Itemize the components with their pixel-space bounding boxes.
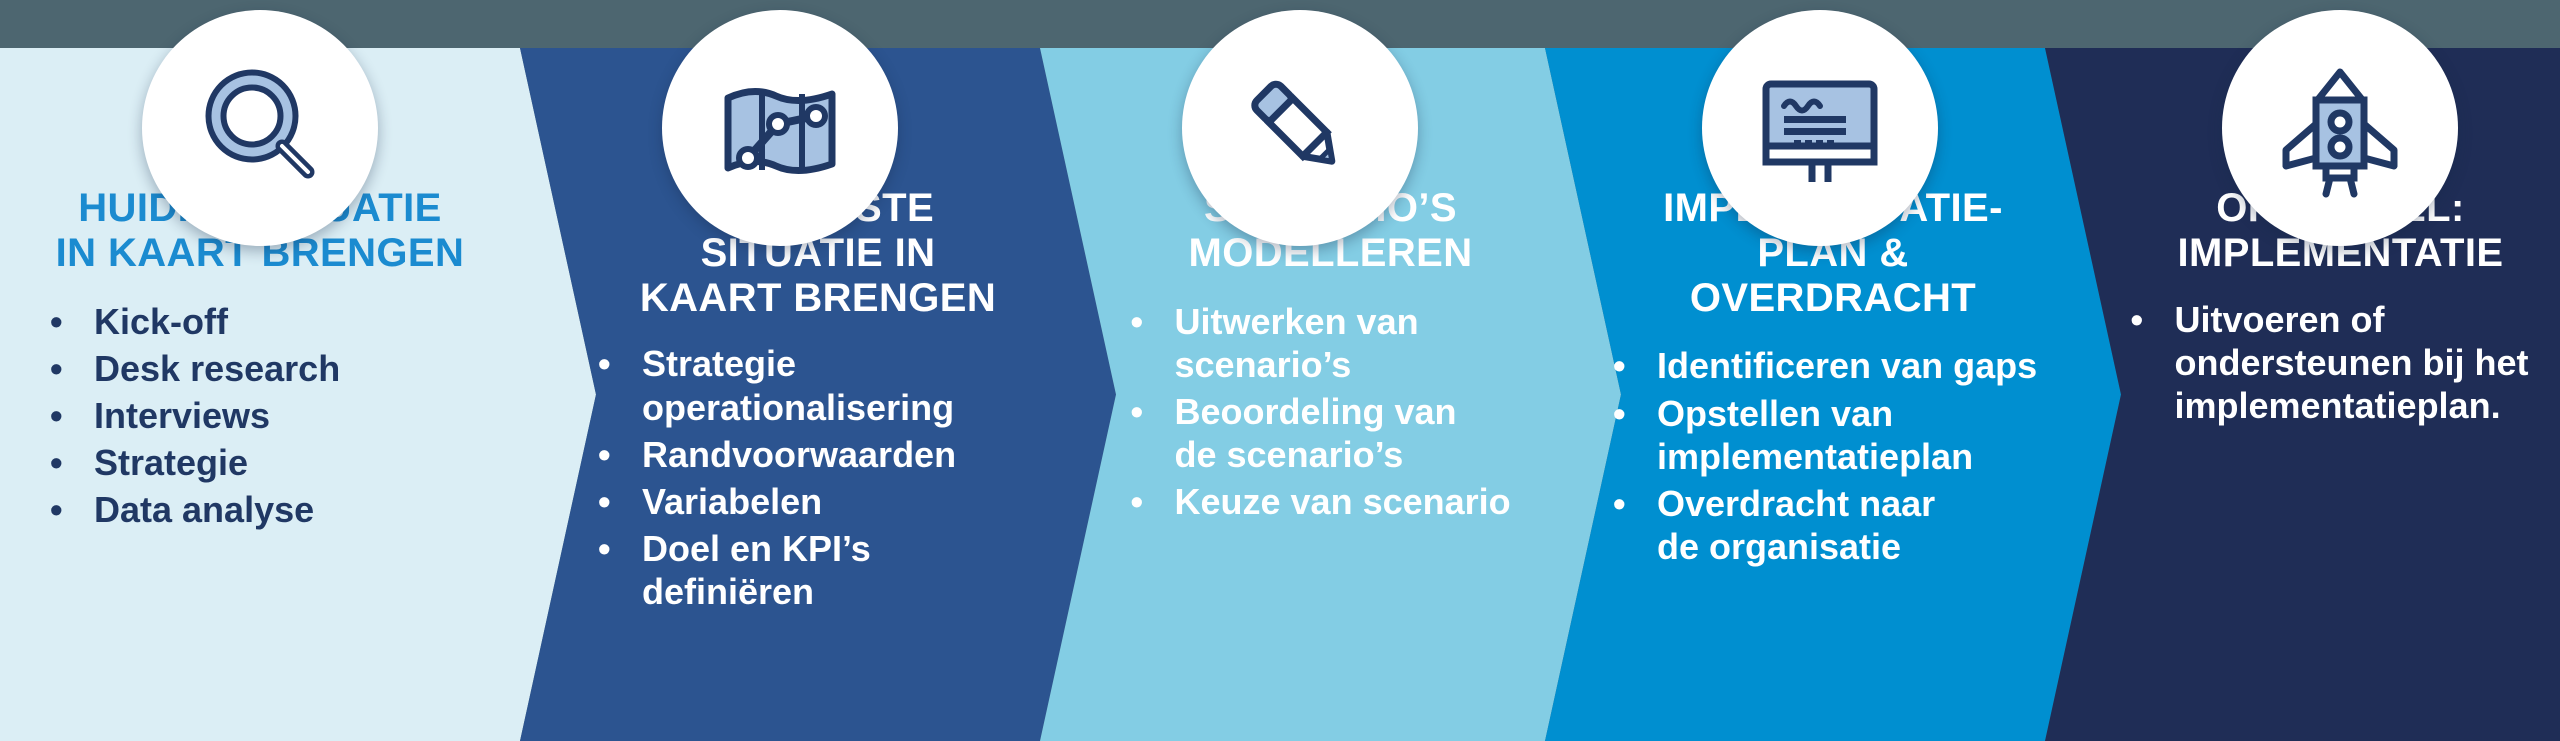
- monitor-icon: [1750, 58, 1890, 198]
- diagram-canvas: HUIDIGE SITUATIE IN KAART BRENGEN •Kick-…: [0, 0, 2560, 741]
- magnifier-icon: [190, 58, 330, 198]
- step-medallion-3[interactable]: [1182, 10, 1418, 246]
- step-medallion-4[interactable]: [1702, 10, 1938, 246]
- map-route-icon: [710, 58, 850, 198]
- pencil-icon: [1230, 58, 1370, 198]
- step-medallion-1[interactable]: [142, 10, 378, 246]
- step-medallion-5[interactable]: [2222, 10, 2458, 246]
- rocket-icon: [2270, 58, 2410, 198]
- step-medallion-2[interactable]: [662, 10, 898, 246]
